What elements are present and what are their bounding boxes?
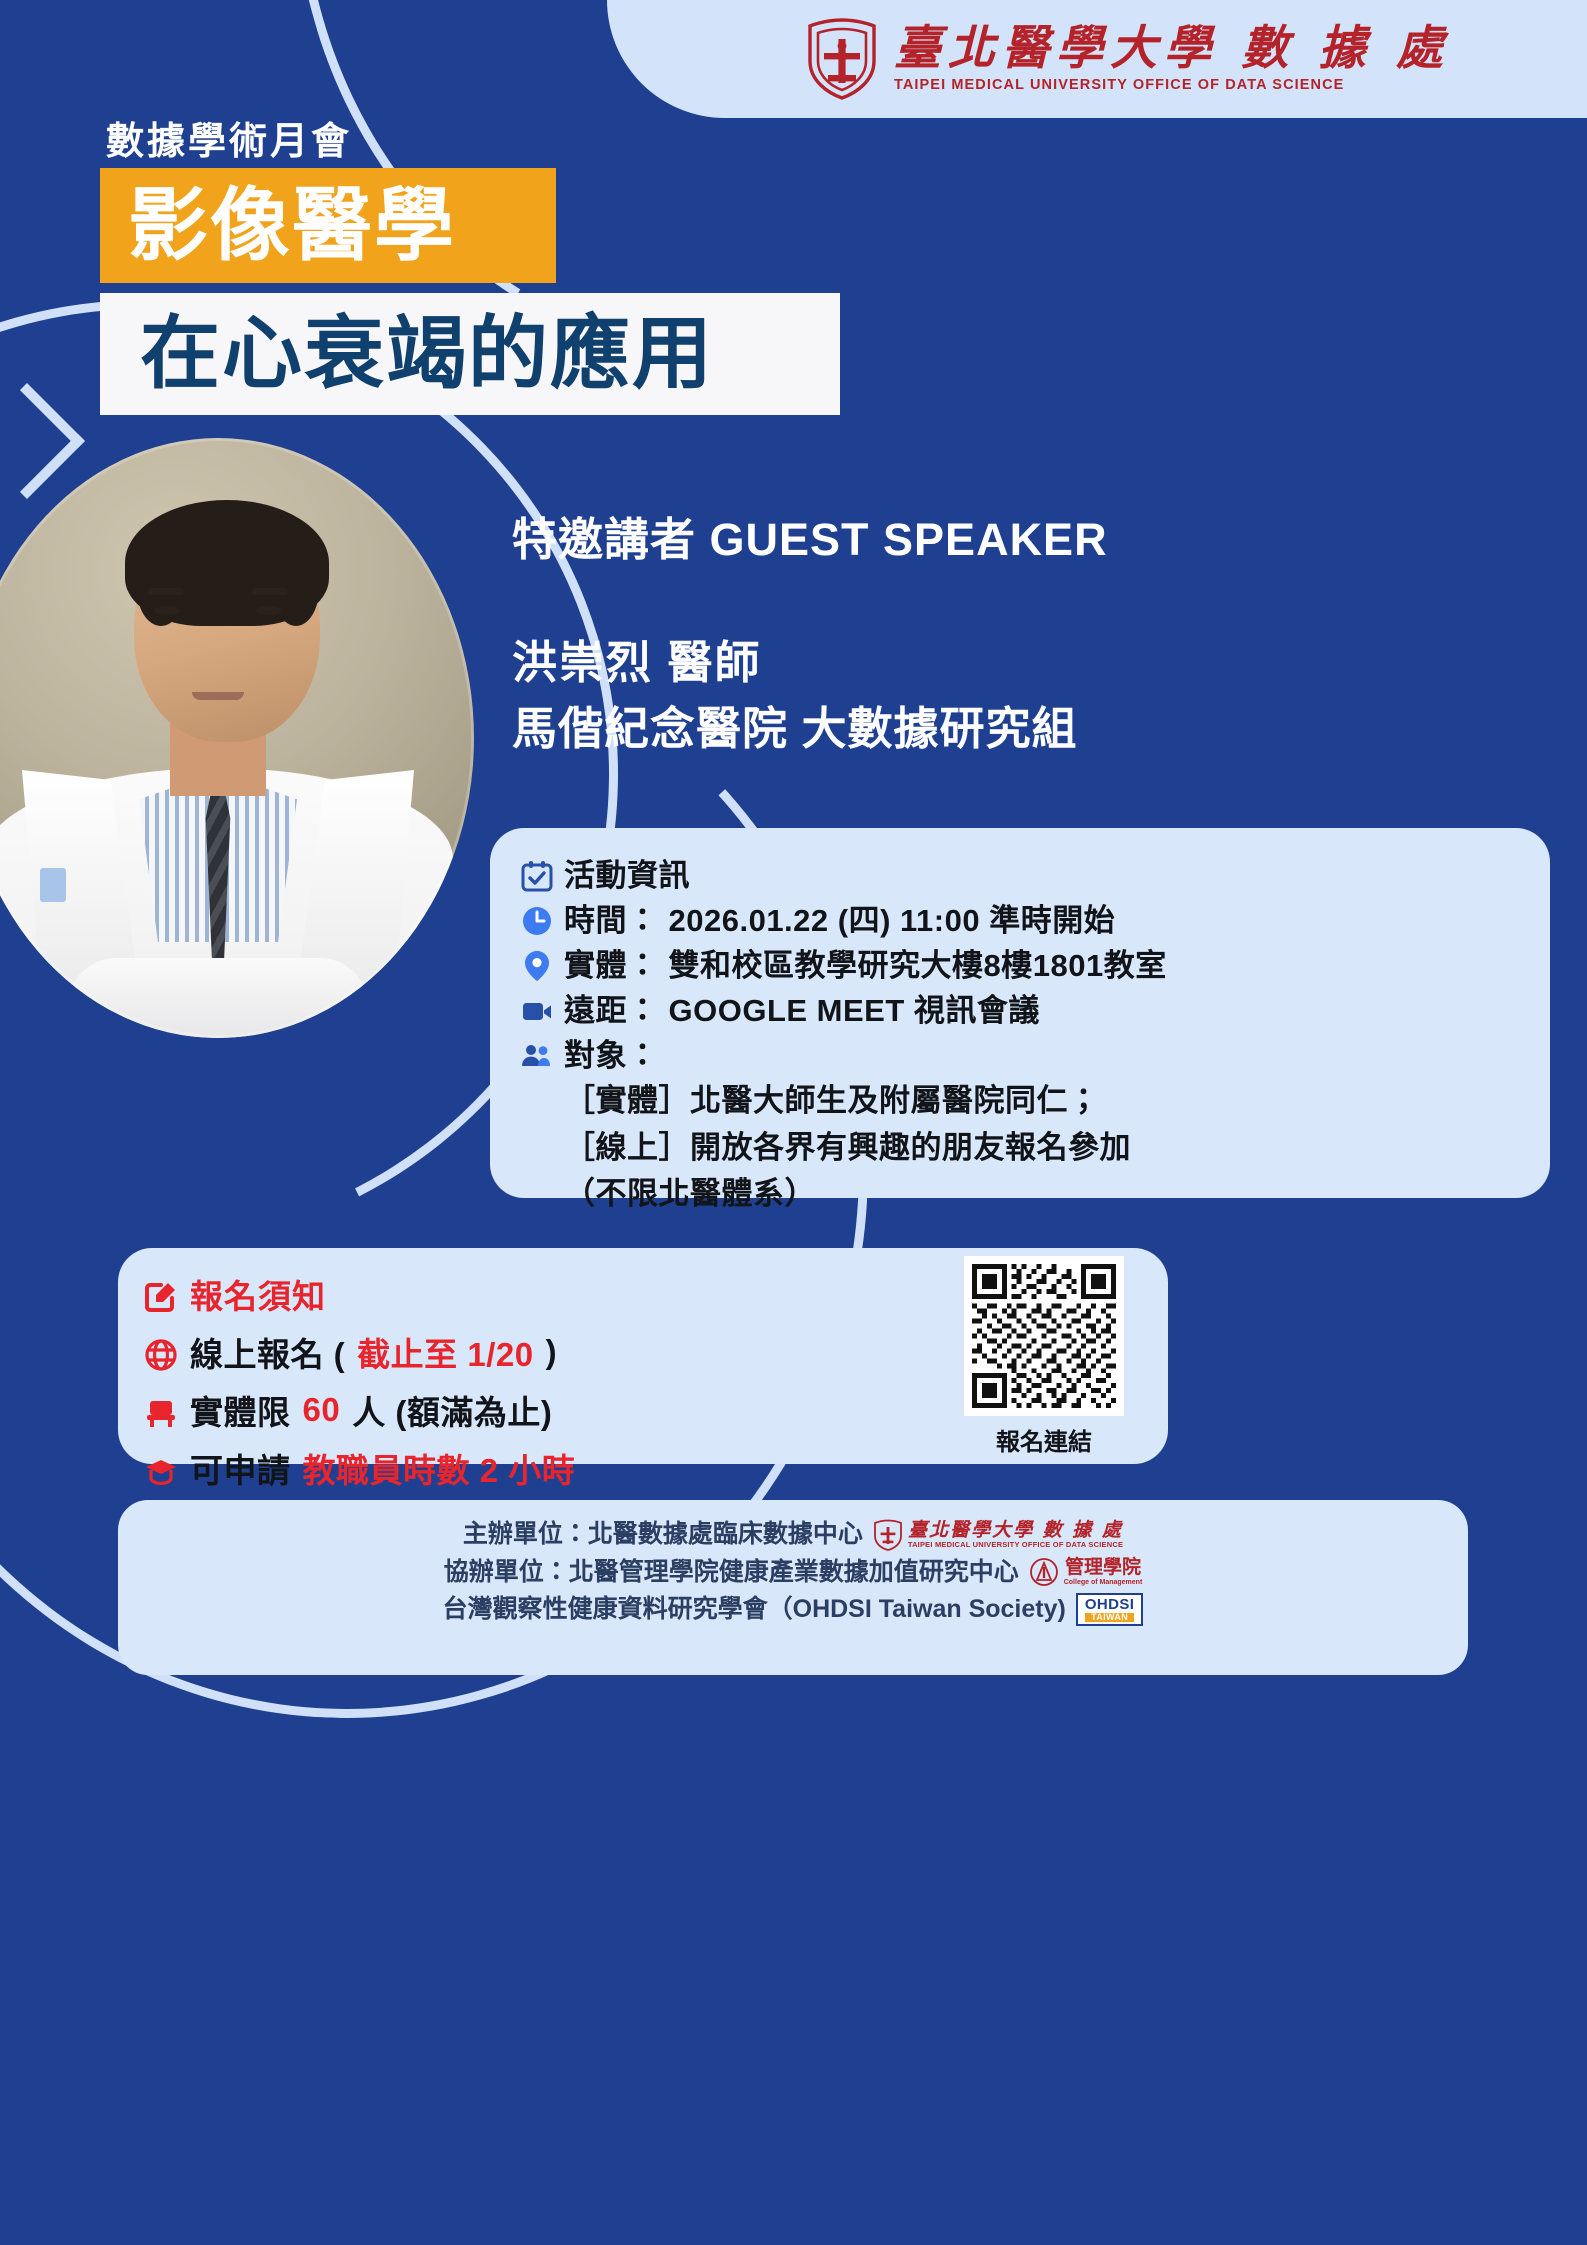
title-line-1: 影像醫學 xyxy=(128,186,456,266)
ohdsi-logo: OHDSI TAIWAN xyxy=(1076,1593,1144,1626)
title-line-2: 在心衰竭的應用 xyxy=(140,314,714,394)
registration-capacity-number: 60 xyxy=(303,1391,341,1429)
video-camera-icon xyxy=(520,994,554,1028)
footer-organizer-row: 主辦單位：北醫數據處臨床數據中心 臺北醫學大學 數 據 處 TAIPEI MED… xyxy=(148,1516,1438,1554)
eye-left xyxy=(154,606,180,615)
event-audience-label: 對象： xyxy=(564,1034,659,1078)
speaker-affiliation: 馬偕紀念醫院 大數據研究組 xyxy=(512,696,1522,761)
event-info-heading: 活動資訊 xyxy=(520,854,1520,898)
footer-tmu-wordmark: 臺北醫學大學 數 據 處 TAIPEI MEDICAL UNIVERSITY O… xyxy=(908,1520,1123,1549)
guest-speaker-label: 特邀講者 GUEST SPEAKER xyxy=(512,512,1522,568)
folded-arms xyxy=(68,958,368,1038)
event-online-value: GOOGLE MEET 視訊會議 xyxy=(669,989,1040,1033)
footer-tmu-cn: 臺北醫學大學 數 據 處 xyxy=(908,1520,1123,1541)
footer-management-wordmark: 管理學院 College of Management xyxy=(1064,1558,1143,1587)
footer-tmu-logo: 臺北醫學大學 數 據 處 TAIPEI MEDICAL UNIVERSITY O… xyxy=(873,1519,1123,1551)
footer-society-row: 台灣觀察性健康資料研究學會（OHDSI Taiwan Society) OHDS… xyxy=(148,1591,1438,1629)
ohdsi-name: OHDSI xyxy=(1085,1597,1135,1613)
graduation-cap-icon xyxy=(144,1454,178,1488)
tmu-crest-icon xyxy=(804,17,880,101)
logo-chinese-text: 臺北醫學大學 數 據 處 xyxy=(894,25,1450,72)
footer-management-cn: 管理學院 xyxy=(1064,1558,1143,1579)
chevron-left-icon xyxy=(0,383,85,499)
registration-capacity-row: 實體限 60 人 (額滿為止) xyxy=(144,1386,926,1434)
footer-coorganizer-row: 協辦單位：北醫管理學院健康產業數據加值研究中心 管理學院 College of … xyxy=(148,1554,1438,1592)
footer-tmu-en: TAIPEI MEDICAL UNIVERSITY OFFICE OF DATA… xyxy=(908,1541,1123,1549)
event-time-row: 時間： 2026.01.22 (四) 11:00 準時開始 xyxy=(520,899,1520,943)
qr-caption: 報名連結 xyxy=(996,1422,1092,1457)
eyebrow-right xyxy=(252,588,288,595)
audience-line-2: ［線上］開放各界有興趣的朋友報名參加 xyxy=(564,1125,1520,1172)
event-venue-value: 雙和校區教學研究大樓8樓1801教室 xyxy=(669,944,1167,988)
registration-capacity-pre: 實體限 xyxy=(190,1386,291,1434)
registration-online-row: 線上報名 ( 截止至 1/20 ) xyxy=(144,1328,926,1376)
speaker-block: 特邀講者 GUEST SPEAKER 洪崇烈 醫師 馬偕紀念醫院 大數據研究組 xyxy=(512,512,1522,761)
registration-card: 報名須知 線上報名 ( 截止至 1/20 ) xyxy=(118,1248,1168,1464)
event-venue-label: 實體： xyxy=(564,944,659,988)
title-band-white: 在心衰竭的應用 xyxy=(100,293,840,415)
registration-credit-row: 可申請 教職員時數 2 小時 xyxy=(144,1444,926,1492)
striped-shirt xyxy=(139,772,297,942)
speaker-name: 洪崇烈 醫師 xyxy=(512,630,1522,695)
globe-icon xyxy=(144,1338,178,1372)
pocket-badge xyxy=(40,868,66,902)
event-time-label: 時間： xyxy=(564,899,659,943)
registration-deadline: 截止至 1/20 xyxy=(357,1328,533,1376)
registration-title-text: 報名須知 xyxy=(190,1270,326,1318)
necktie xyxy=(196,788,240,978)
qr-section[interactable]: 報名連結 xyxy=(946,1270,1142,1442)
tmu-crest-icon xyxy=(873,1519,903,1551)
event-info-card: 活動資訊 時間： 2026.01.22 (四) 11:00 準時開始 實體： 雙… xyxy=(490,828,1550,1198)
footer-card: 主辦單位：北醫數據處臨床數據中心 臺北醫學大學 數 據 處 TAIPEI MED… xyxy=(118,1500,1468,1675)
logo-wordmark: 臺北醫學大學 數 據 處 TAIPEI MEDICAL UNIVERSITY O… xyxy=(894,25,1450,93)
eyebrow-left xyxy=(148,588,184,595)
registration-online-pre: 線上報名 ( xyxy=(190,1328,345,1376)
event-online-row: 遠距： GOOGLE MEET 視訊會議 xyxy=(520,989,1520,1033)
location-pin-icon xyxy=(520,949,554,983)
registration-credit-pre: 可申請 xyxy=(190,1444,291,1492)
event-poster: 臺北醫學大學 數 據 處 TAIPEI MEDICAL UNIVERSITY O… xyxy=(0,0,1587,2245)
footer-management-logo: 管理學院 College of Management xyxy=(1029,1556,1143,1588)
registration-capacity-post: 人 (額滿為止) xyxy=(352,1386,552,1434)
hair xyxy=(125,500,329,626)
event-online-label: 遠距： xyxy=(564,989,659,1033)
title-band-orange: 影像醫學 xyxy=(100,168,556,283)
people-icon xyxy=(520,1039,554,1073)
footer-society-text: 台灣觀察性健康資料研究學會（OHDSI Taiwan Society) xyxy=(443,1591,1066,1629)
management-college-crest-icon xyxy=(1029,1556,1059,1588)
footer-coorganizer-text: 協辦單位：北醫管理學院健康產業數據加值研究中心 xyxy=(444,1554,1019,1592)
registration-details: 報名須知 線上報名 ( 截止至 1/20 ) xyxy=(144,1270,926,1442)
clock-icon xyxy=(520,904,554,938)
event-venue-row: 實體： 雙和校區教學研究大樓8樓1801教室 xyxy=(520,944,1520,988)
event-time-value: 2026.01.22 (四) 11:00 準時開始 xyxy=(669,899,1116,943)
eye-right xyxy=(256,606,282,615)
logo-english-text: TAIPEI MEDICAL UNIVERSITY OFFICE OF DATA… xyxy=(894,78,1345,93)
event-info-heading-text: 活動資訊 xyxy=(564,854,690,898)
calendar-check-icon xyxy=(520,859,554,893)
qr-code-icon[interactable] xyxy=(964,1256,1124,1416)
ohdsi-region: TAIWAN xyxy=(1085,1613,1135,1622)
footer-management-en: College of Management xyxy=(1064,1579,1143,1587)
speaker-portrait xyxy=(0,438,474,1038)
audience-line-3: （不限北醫體系） xyxy=(564,1171,1520,1218)
neck xyxy=(170,724,266,796)
face xyxy=(134,514,320,742)
series-kicker: 數據學術月會 xyxy=(106,110,352,165)
registration-online-post: ) xyxy=(546,1333,558,1371)
seat-icon xyxy=(144,1396,178,1430)
edit-note-icon xyxy=(144,1280,178,1314)
audience-line-1: ［實體］北醫大師生及附屬醫院同仁； xyxy=(564,1078,1520,1125)
mouth xyxy=(192,692,244,700)
footer-organizer-text: 主辦單位：北醫數據處臨床數據中心 xyxy=(463,1516,863,1554)
university-logo-header: 臺北醫學大學 數 據 處 TAIPEI MEDICAL UNIVERSITY O… xyxy=(607,0,1587,118)
registration-credit-highlight: 教職員時數 2 小時 xyxy=(303,1444,576,1492)
event-audience-row: 對象： xyxy=(520,1034,1520,1078)
registration-title-row: 報名須知 xyxy=(144,1270,926,1318)
